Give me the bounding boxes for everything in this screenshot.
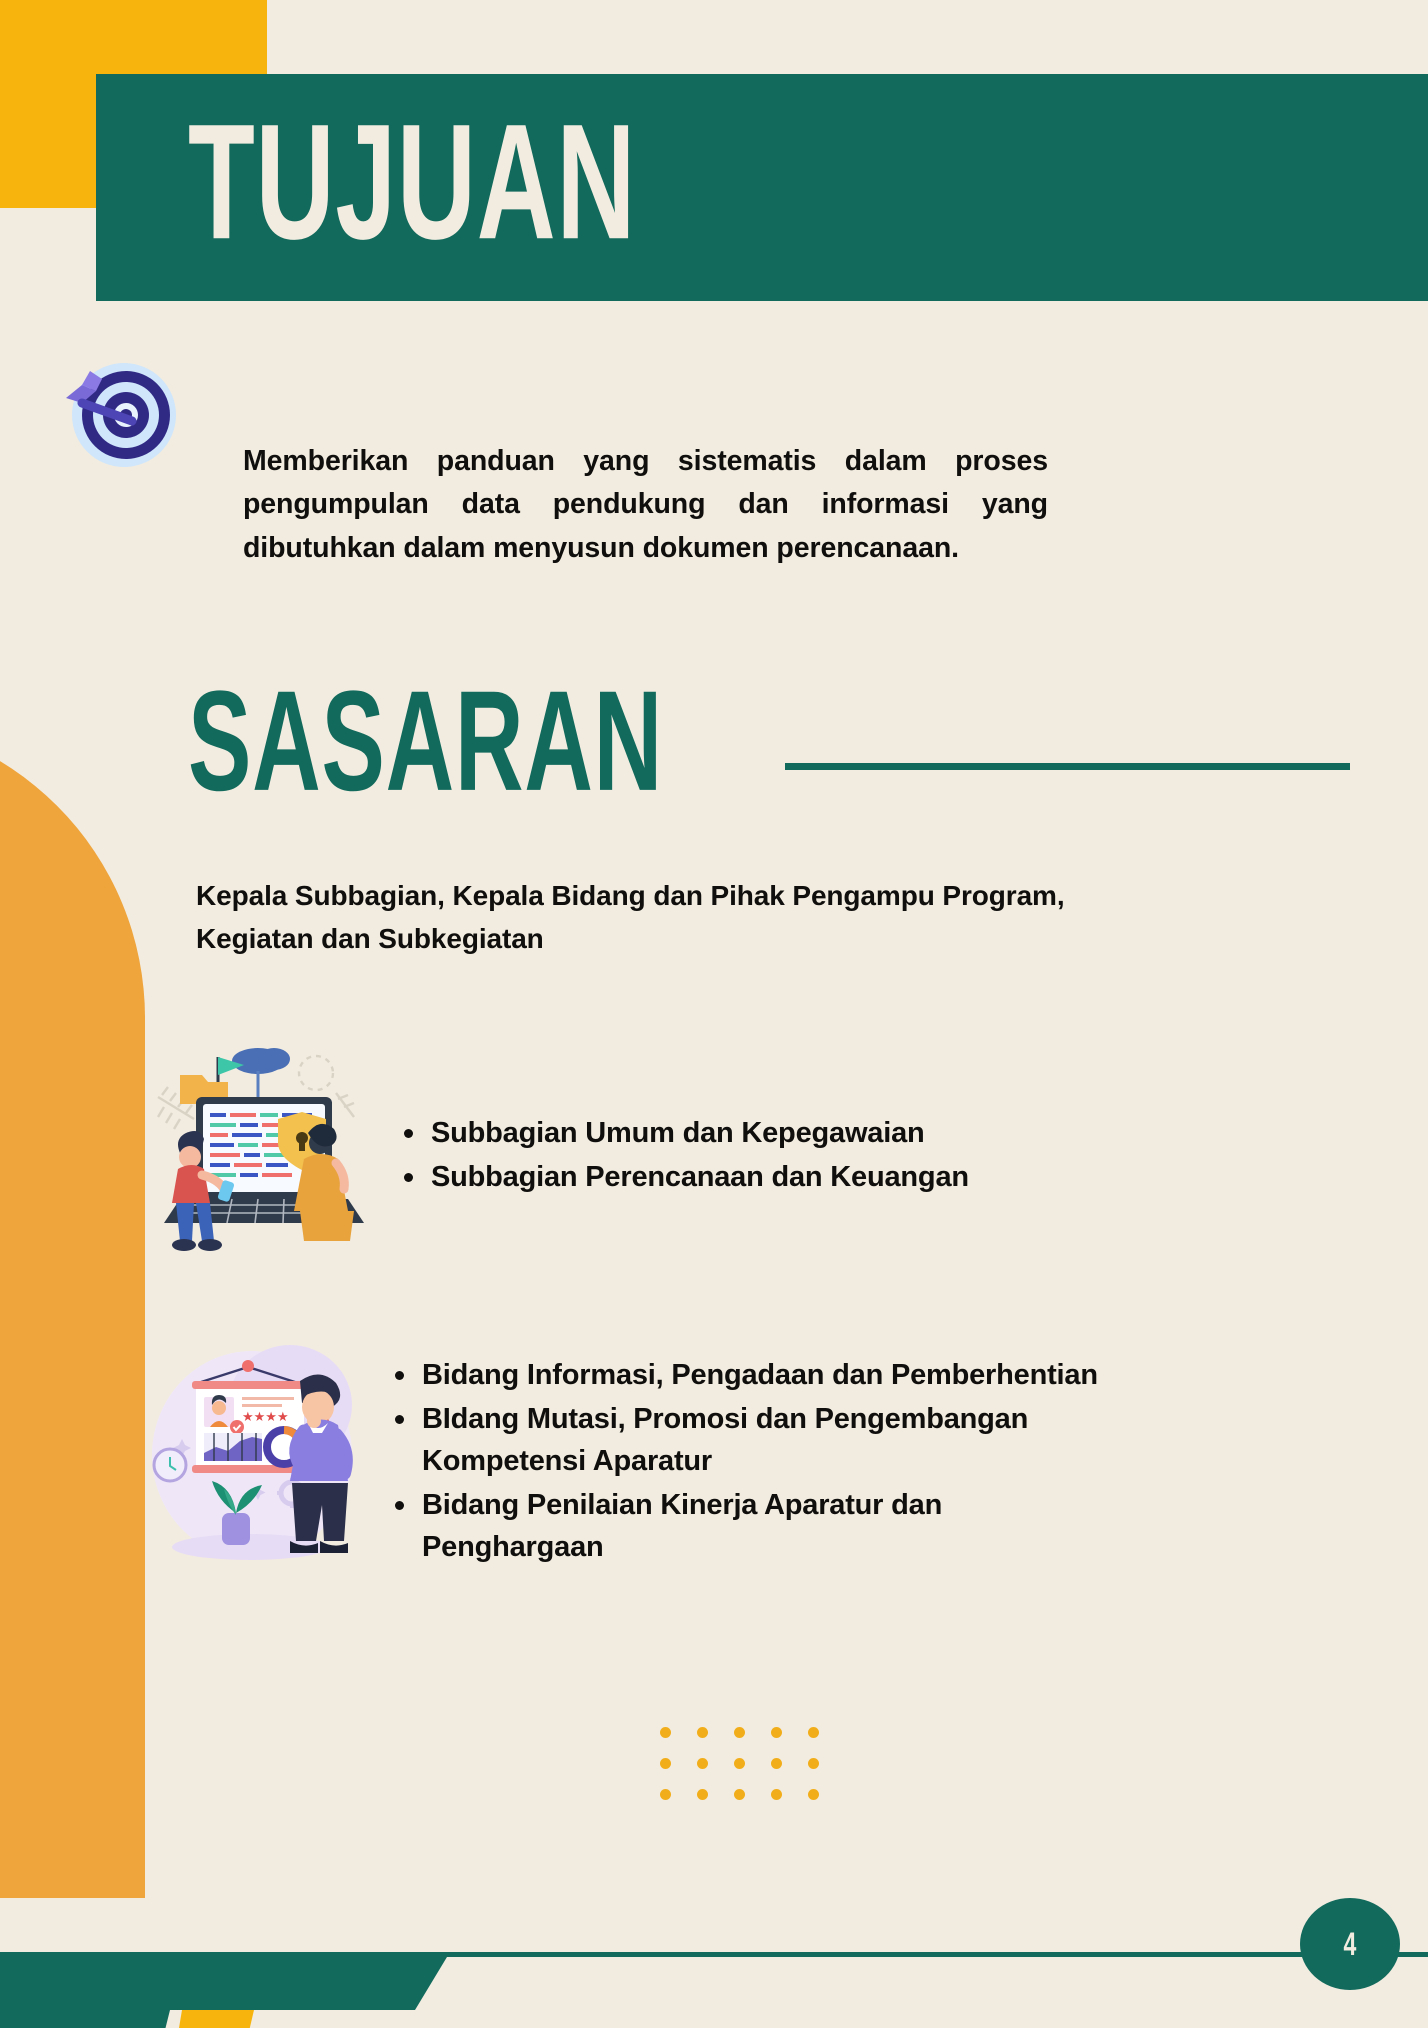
sasaran-group-2: ★★★★ [140, 1335, 1129, 1575]
dot [734, 1727, 745, 1738]
sasaran-group-2-list: Bidang Informasi, Pengadaan dan Pemberhe… [389, 1355, 1129, 1571]
list-item: Bidang Penilaian Kinerja Aparatur dan Pe… [389, 1485, 1129, 1568]
dot [808, 1727, 819, 1738]
dot [808, 1789, 819, 1800]
page-number-label: 4 [1344, 1926, 1357, 1963]
dot [697, 1727, 708, 1738]
laptop-data-team-illustration [140, 1035, 365, 1265]
dot [771, 1758, 782, 1769]
list-item: BIdang Mutasi, Promosi dan Pengembangan … [389, 1399, 1129, 1482]
orange-left-arc-shape [0, 718, 145, 1898]
list-item: Subbagian Perencanaan dan Keuangan [398, 1157, 969, 1198]
dot [660, 1789, 671, 1800]
sasaran-title-rule [785, 763, 1350, 770]
list-item: Subbagian Umum dan Kepegawaian [398, 1113, 969, 1154]
dot [734, 1758, 745, 1769]
sasaran-group-1: Subbagian Umum dan Kepegawaian Subbagian… [140, 1035, 969, 1265]
footer-yellow-accent-shape [172, 2010, 272, 2028]
dot [697, 1789, 708, 1800]
page-number-badge: 4 [1300, 1898, 1400, 1990]
dot [734, 1789, 745, 1800]
slide-page: TUJUAN Memberikan panduan yang sistemati… [0, 0, 1428, 2028]
dot [697, 1758, 708, 1769]
dot [771, 1727, 782, 1738]
svg-text:★★★★: ★★★★ [242, 1410, 289, 1425]
sasaran-subtitle: Kepala Subbagian, Kepala Bidang dan Piha… [196, 875, 1096, 960]
target-dartboard-icon [52, 345, 180, 473]
sasaran-group-1-list: Subbagian Umum dan Kepegawaian Subbagian… [398, 1113, 969, 1202]
tujuan-paragraph: Memberikan panduan yang sistematis dalam… [243, 440, 1048, 570]
page-title-tujuan: TUJUAN [188, 100, 636, 264]
dot [660, 1758, 671, 1769]
dot [808, 1758, 819, 1769]
presentation-board-person-illustration: ★★★★ [140, 1335, 355, 1575]
dot-grid-decoration [660, 1727, 845, 1820]
list-item: Bidang Informasi, Pengadaan dan Pemberhe… [389, 1355, 1129, 1396]
dot [771, 1789, 782, 1800]
section-title-sasaran: SASARAN [188, 670, 663, 813]
dot [660, 1727, 671, 1738]
